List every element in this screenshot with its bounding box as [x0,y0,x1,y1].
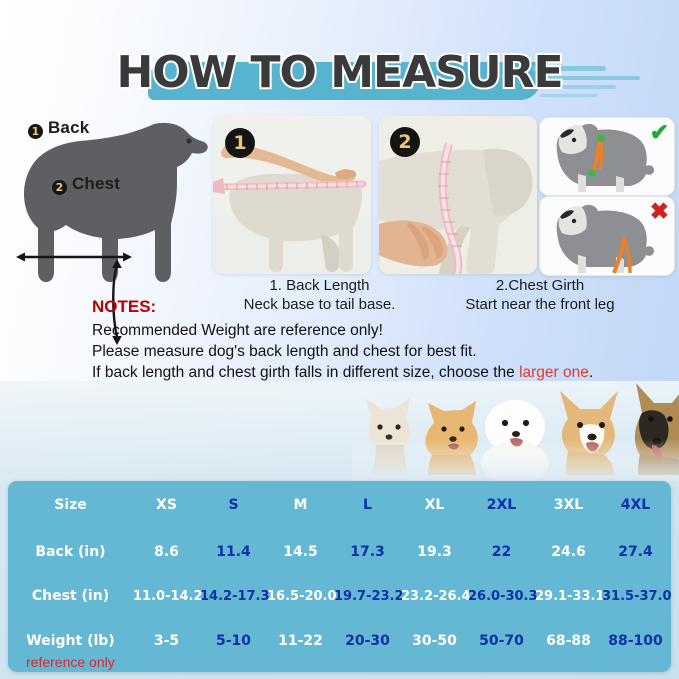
correct-check-icon: ✔ [650,121,669,144]
notes-line-3-pre: If back length and chest girth falls in … [92,364,519,381]
cell-back-3xl: 24.6 [535,544,602,560]
cell-weight-xs: 3-5 [133,633,200,649]
row-label-weight: Weight (lb) [8,633,133,649]
chest-label-text: Chest [72,174,120,193]
weight-reference-note: reference only [26,654,115,670]
row-label-size: Size [8,497,133,513]
cell-size-s: S [200,497,267,513]
cell-chest-xs: 11.0-14.2 [133,589,200,604]
notes-body: Recommended Weight are reference only! P… [92,320,672,383]
row-label-back: Back (in) [8,544,133,560]
cell-chest-3xl: 29.1-33.1 [535,589,602,604]
size-chart-page: HOW TO MEASURE 1 Back 2 Chest [0,0,679,679]
cell-chest-m: 16.5-20.0 [267,589,334,604]
cell-chest-l: 19.7-23.2 [334,589,401,604]
back-label-text: Back [48,118,89,137]
cell-size-3xl: 3XL [535,497,602,513]
photo-incorrect-fit: ✖ [539,196,675,276]
notes-line-3-post: . [589,364,593,381]
cell-weight-m: 11-22 [267,633,334,649]
notes-line-2: Please measure dog's back length and che… [92,341,672,362]
page-title: HOW TO MEASURE [0,40,679,106]
cell-chest-4xl: 31.5-37.0 [602,589,669,604]
photo-correct-fit: ✔ [539,117,675,196]
step-number-1: 1 [225,128,255,158]
cell-back-xl: 19.3 [401,544,468,560]
size-chart-table: Size XS S M L XL 2XL 3XL 4XL Back (in) 8… [8,481,671,672]
table-row-size: Size XS S M L XL 2XL 3XL 4XL [8,481,671,529]
row-label-chest: Chest (in) [8,588,133,604]
photo-back-length: 1 [213,116,371,274]
caption-back-length: 1. Back Length Neck base to tail base. [212,276,427,314]
cell-weight-2xl: 50-70 [468,633,535,649]
caption-back-line1: 1. Back Length [212,276,427,295]
cell-back-l: 17.3 [334,544,401,560]
cell-back-s: 11.4 [200,544,267,560]
cell-size-4xl: 4XL [602,497,669,513]
notes-line-1: Recommended Weight are reference only! [92,320,672,341]
notes-title: NOTES: [92,297,156,317]
cell-weight-3xl: 68-88 [535,633,602,649]
cell-chest-2xl: 26.0-30.3 [468,589,535,604]
cell-chest-s: 14.2-17.3 [200,589,267,604]
cell-back-2xl: 22 [468,544,535,560]
cell-size-2xl: 2XL [468,497,535,513]
notes-line-3: If back length and chest girth falls in … [92,362,672,383]
cell-size-xs: XS [133,497,200,513]
cell-back-m: 14.5 [267,544,334,560]
cell-size-m: M [267,497,334,513]
photo-chest-girth: 2 [379,116,537,274]
incorrect-cross-icon: ✖ [650,200,669,223]
back-measure-label: 1 Back [28,118,89,139]
cell-size-l: L [334,497,401,513]
chest-measure-label: 2 Chest [52,174,120,195]
cell-size-xl: XL [401,497,468,513]
badge-one: 1 [28,124,43,139]
caption-chest-line2: Start near the front leg [430,295,650,314]
dog-breeds-photo-icon [352,383,679,481]
badge-two: 2 [52,180,67,195]
notes-highlight: larger one [519,364,589,381]
step-number-2: 2 [390,127,420,157]
cell-weight-4xl: 88-100 [602,633,669,649]
cell-weight-xl: 30-50 [401,633,468,649]
cell-chest-xl: 23.2-26.4 [401,589,468,604]
title-banner: HOW TO MEASURE [0,40,679,112]
cell-back-4xl: 27.4 [602,544,669,560]
cell-back-xs: 8.6 [133,544,200,560]
table-row-back: Back (in) 8.6 11.4 14.5 17.3 19.3 22 24.… [8,529,671,574]
caption-chest-line1: 2.Chest Girth [430,276,650,295]
dog-breed-strip [352,383,679,481]
caption-back-line2: Neck base to tail base. [212,295,427,314]
cell-weight-s: 5-10 [200,633,267,649]
cell-weight-l: 20-30 [334,633,401,649]
caption-chest-girth: 2.Chest Girth Start near the front leg [430,276,650,314]
table-row-chest: Chest (in) 11.0-14.2 14.2-17.3 16.5-20.0… [8,574,671,618]
